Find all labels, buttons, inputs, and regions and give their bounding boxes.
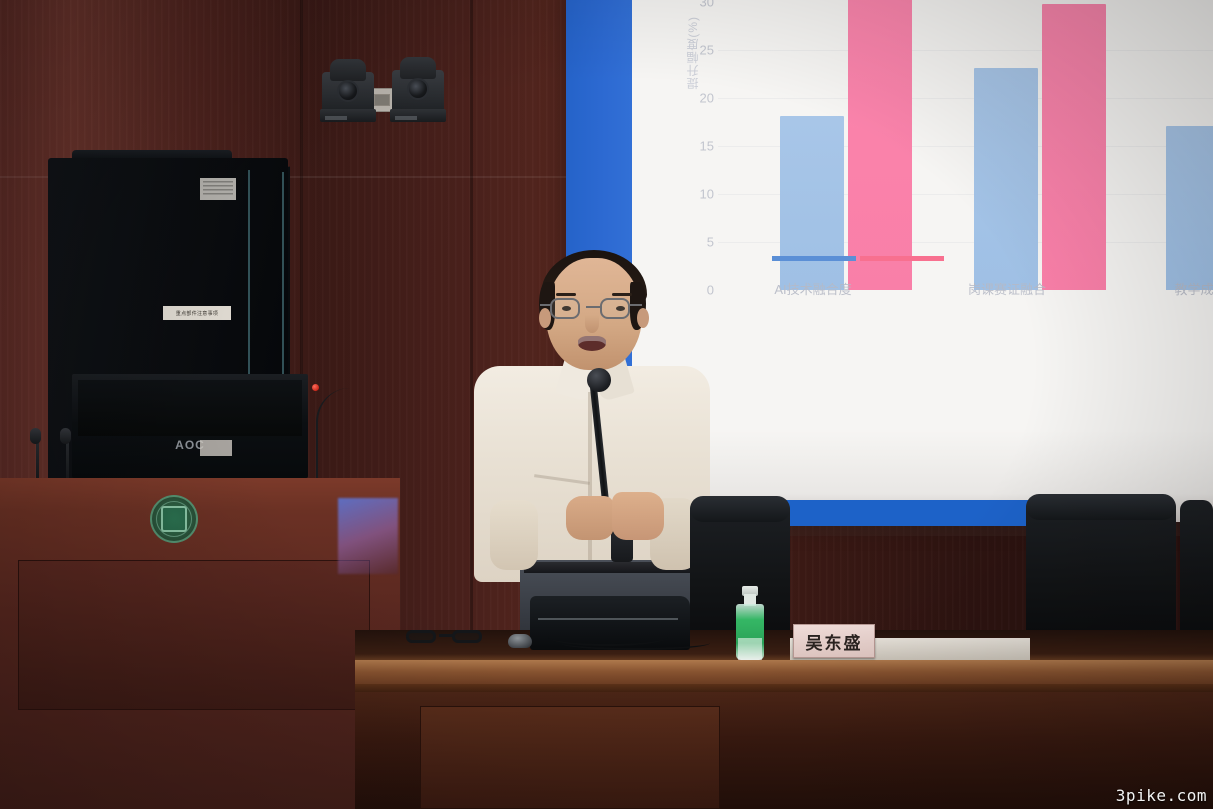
chair-center-headrest — [1026, 494, 1176, 520]
university-seal-emblem — [150, 495, 198, 543]
camera-head-right — [400, 57, 436, 79]
monitor-spec-sticker — [200, 440, 232, 456]
podium-screen-glow — [338, 498, 398, 574]
camera-wall-bracket-plate — [374, 94, 390, 106]
presenter-eyebrow-left — [556, 293, 576, 296]
table-glasses-lens-right — [452, 630, 482, 643]
podium-gooseneck-mic — [316, 388, 350, 484]
eyeglasses-on-table — [406, 628, 488, 646]
computer-mouse — [508, 634, 532, 648]
slide-bar-chart: 提升幅度(%) 0 5 10 15 20 25 30 AI技术融合度 岗课赛证融… — [632, 0, 1213, 320]
camera-lens-right — [407, 78, 429, 100]
eyeglasses-bridge — [586, 306, 600, 308]
wall-panel-edge — [470, 0, 473, 700]
eyeglasses-lens-right — [600, 298, 630, 319]
y-tick-25: 25 — [684, 43, 714, 58]
desk-cable — [560, 636, 710, 650]
conference-table-top — [355, 660, 1213, 686]
presenter-eyebrow-right — [612, 293, 632, 296]
conference-room-photo: 提升幅度(%) 0 5 10 15 20 25 30 AI技术融合度 岗课赛证融… — [0, 0, 1213, 809]
camera-base-right — [390, 109, 446, 122]
desk-nameplate: 吴东盛 — [793, 624, 875, 658]
chair-center — [1026, 498, 1176, 648]
legend-swatch-after — [860, 256, 944, 261]
mic-head-left — [30, 428, 41, 444]
camera-head-left — [330, 59, 366, 81]
watermark: 3pike.com — [1116, 786, 1207, 805]
seal-outer-ring — [156, 501, 192, 537]
chart-plot-area — [718, 0, 1213, 290]
table-glasses-lens-left — [406, 630, 436, 643]
rack-sticker-text-lines — [203, 181, 233, 197]
presenter-ear-right — [637, 308, 649, 328]
x-category-label-2: 教学成 — [1174, 279, 1213, 298]
bar-series-after-cat-0 — [848, 0, 912, 290]
mic-head-right — [60, 428, 71, 444]
rack-warning-sticker — [200, 178, 236, 200]
y-tick-15: 15 — [684, 139, 714, 154]
y-tick-30: 30 — [684, 0, 714, 10]
bottle-label — [738, 638, 762, 660]
aoc-monitor: AOC — [72, 374, 308, 478]
water-bottle — [736, 586, 764, 660]
presenter-mouth — [578, 336, 606, 351]
camera-lens-left — [337, 80, 359, 102]
y-tick-20: 20 — [684, 91, 714, 106]
eyeglasses-temple-right — [630, 304, 642, 306]
rack-caution-label: 重点部件注意事项 — [163, 306, 231, 320]
bar-series-before-cat-0 — [780, 116, 844, 290]
camera-badge-right — [395, 116, 417, 120]
microphone-capsule — [587, 368, 611, 392]
desk-nameplate-text: 吴东盛 — [806, 629, 863, 654]
ptz-camera-right — [392, 70, 444, 116]
x-category-label-0: AI技术融合度 — [774, 279, 851, 298]
eyeglasses-lens-left — [550, 298, 580, 319]
y-tick-5: 5 — [684, 235, 714, 250]
conference-table-front-panel — [420, 706, 720, 809]
bottle-body — [736, 604, 764, 660]
y-tick-0: 0 — [684, 283, 714, 298]
presenter-hand-right — [612, 492, 664, 540]
ptz-camera-left — [322, 72, 374, 116]
presenter-nose — [585, 315, 599, 333]
presenter-forearm-left — [490, 500, 538, 570]
eyeglasses-temple-left — [540, 304, 552, 306]
bar-series-before-cat-1 — [974, 68, 1038, 290]
camera-base-left — [320, 109, 376, 122]
chair-left-headrest — [690, 496, 790, 522]
bar-series-after-cat-1 — [1042, 4, 1106, 290]
monitor-screen — [78, 380, 302, 436]
bar-series-before-cat-2 — [1166, 126, 1213, 290]
x-category-label-1: 岗课赛证融合 — [968, 279, 1046, 298]
podium-mic-red-tip — [312, 384, 319, 391]
y-tick-10: 10 — [684, 187, 714, 202]
laptop-lid-seam — [538, 618, 678, 620]
podium-front-panel — [18, 560, 370, 710]
presenter-hand-left — [566, 496, 614, 540]
table-glasses-bridge — [439, 634, 453, 637]
camera-badge-left — [325, 116, 347, 120]
chair-right — [1180, 500, 1213, 650]
legend-swatch-before — [772, 256, 856, 261]
